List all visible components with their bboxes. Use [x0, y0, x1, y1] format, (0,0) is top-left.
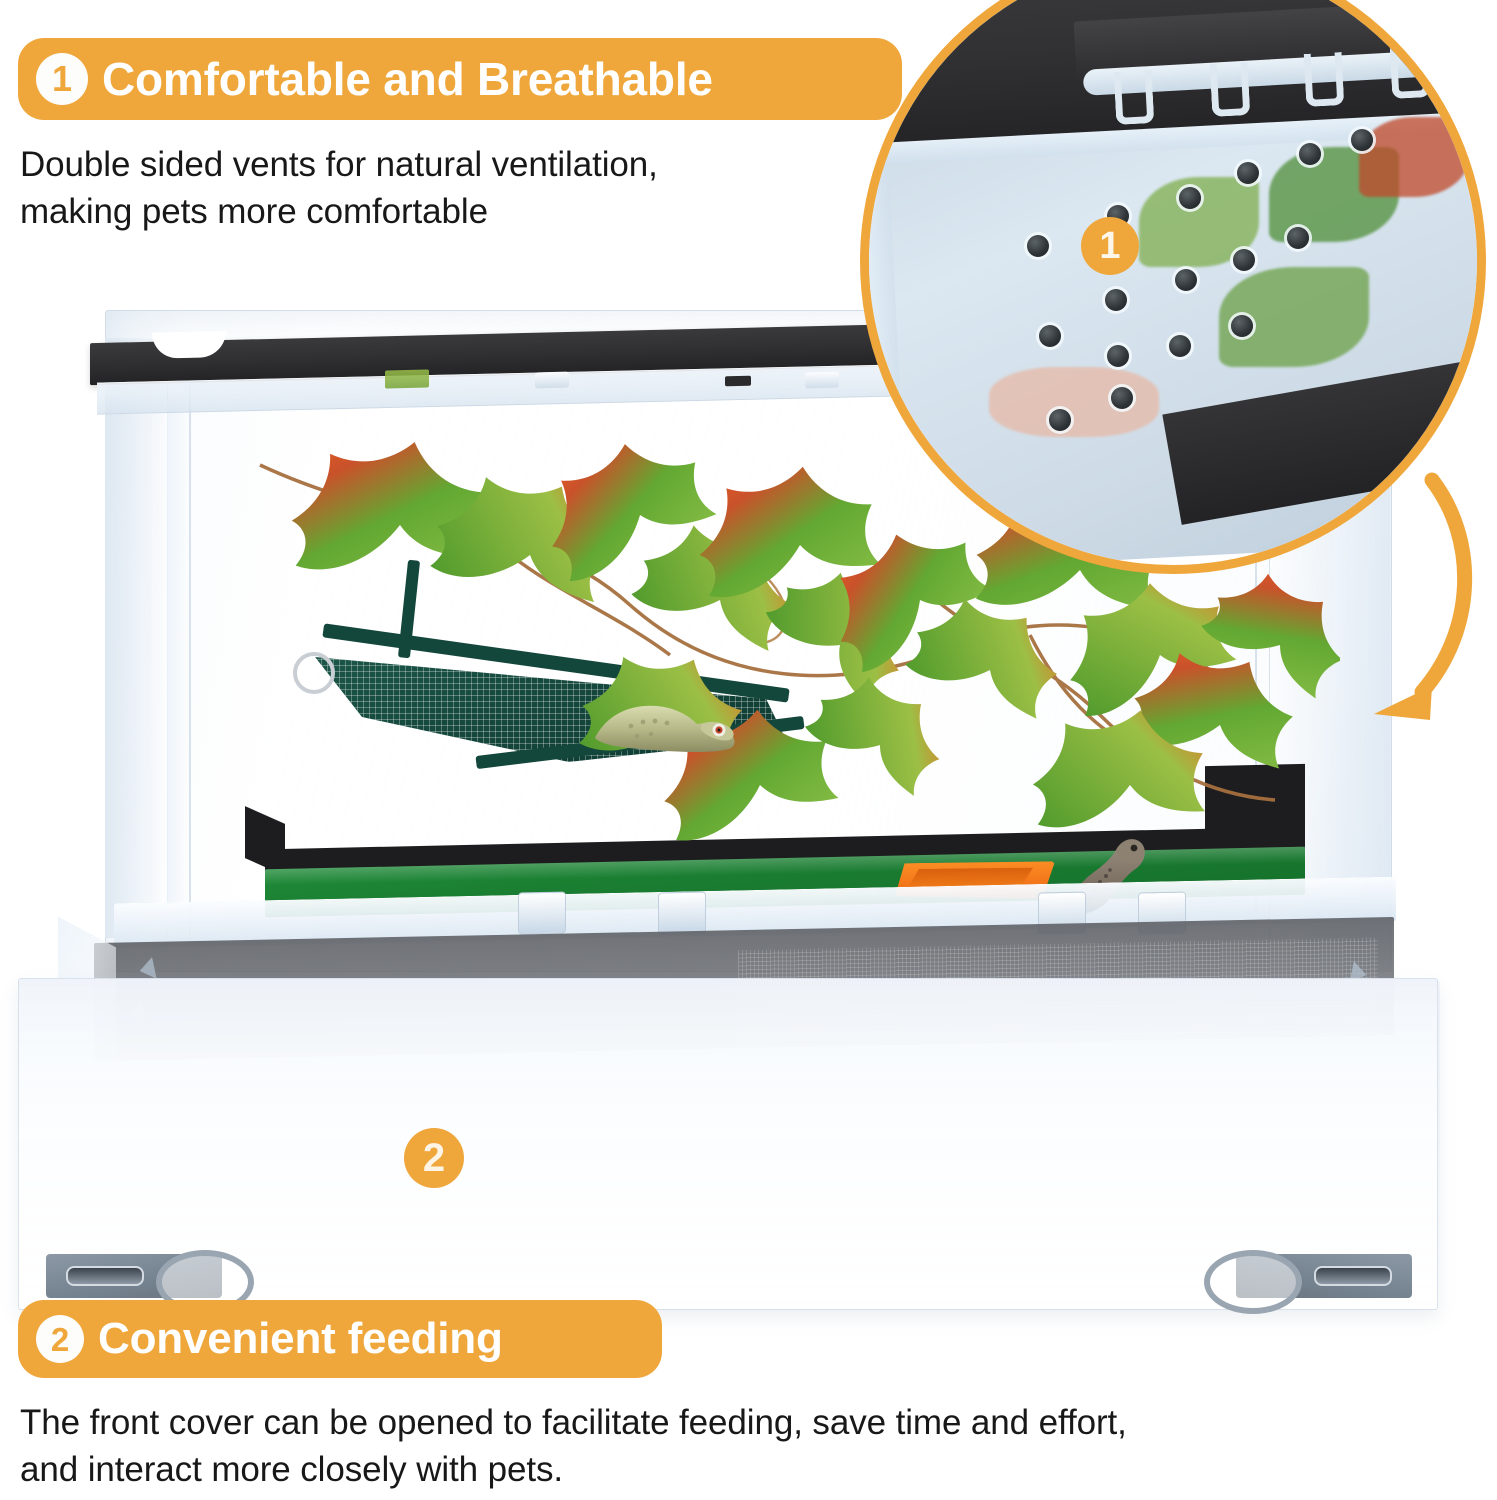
vent-hole-10 [1287, 227, 1309, 249]
feature-1-title: Comfortable and Breathable [102, 52, 713, 106]
vent-hole-7 [1105, 289, 1127, 311]
vent-hole-15 [1111, 387, 1133, 409]
feature-2-description: The front cover can be opened to facilit… [20, 1400, 1420, 1494]
feature-2-title: Convenient feeding [98, 1314, 503, 1364]
vent-hole-4 [1237, 162, 1259, 184]
hinge-clip-2 [658, 891, 706, 934]
rail-green-tab [385, 370, 429, 389]
inset-blurred-leaf-4 [1359, 117, 1469, 197]
tank-seam-left [189, 380, 191, 940]
feature-1-banner: 1 Comfortable and Breathable [18, 38, 902, 120]
cover-marker-badge-2: 2 [404, 1128, 464, 1188]
vent-hole-3 [1179, 187, 1201, 209]
vent-hole-12 [1107, 345, 1129, 367]
latch-right[interactable] [1196, 1248, 1428, 1310]
vent-hole-5 [1299, 143, 1321, 165]
inset-hinge-hook-3 [1304, 52, 1345, 107]
latch-right-ring [1204, 1250, 1302, 1314]
latch-left-slot [66, 1266, 144, 1286]
vent-hole-13 [1169, 335, 1191, 357]
hinge-clip-1 [518, 891, 566, 934]
rail-clip-1 [535, 372, 569, 389]
feature-2-banner: 2 Convenient feeding [18, 1300, 662, 1378]
tank-left-wall-highlight [167, 400, 189, 930]
callout-arrow-icon [1310, 470, 1497, 740]
front-cover-door[interactable] [18, 890, 1436, 1310]
inset-hinge-hook-4 [1390, 44, 1431, 99]
vent-hole-6 [1351, 129, 1373, 151]
vent-hole-8 [1175, 269, 1197, 291]
feature-2-number-badge: 2 [36, 1315, 84, 1363]
latch-right-slot [1314, 1266, 1392, 1286]
vent-hole-16 [1049, 409, 1071, 431]
vent-hole-1 [1027, 235, 1049, 257]
lid-notch [152, 331, 226, 359]
bearded-dragon-in-hammock [585, 680, 765, 760]
inset-blurred-lizard [989, 367, 1159, 437]
vent-hole-11 [1039, 325, 1061, 347]
vent-hole-14 [1231, 315, 1253, 337]
feature-1-number-badge: 1 [36, 53, 88, 105]
inset-hinge-hook-1 [1114, 70, 1155, 125]
rail-clip-2 [805, 372, 839, 389]
rail-vent-slot-1 [725, 376, 751, 387]
inset-hinge-hook-2 [1210, 62, 1251, 117]
inset-marker-badge-1: 1 [1081, 217, 1139, 275]
tank-left-wall [105, 338, 168, 938]
feature-1-description: Double sided vents for natural ventilati… [20, 142, 880, 236]
vent-hole-9 [1233, 249, 1255, 271]
